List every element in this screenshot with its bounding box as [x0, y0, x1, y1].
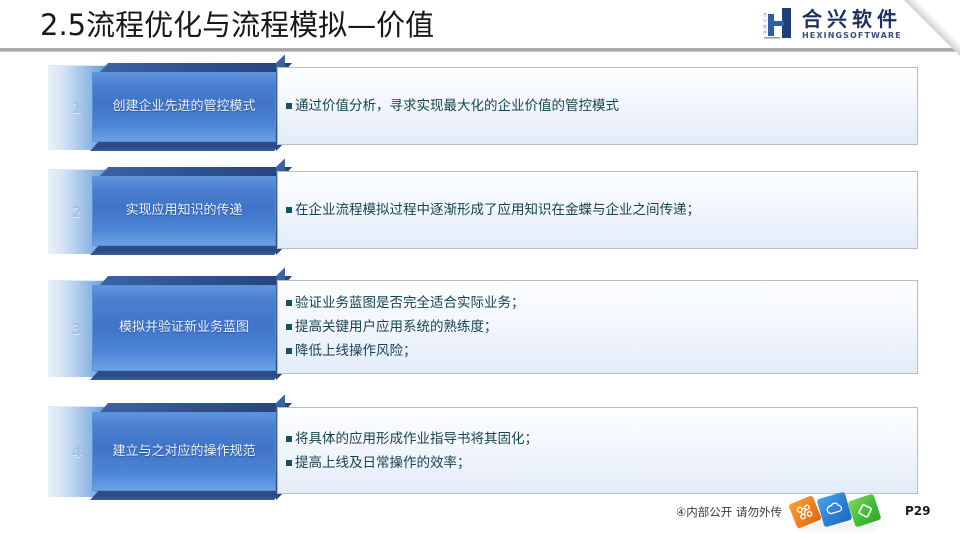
row-label-box[interactable]: 创建企业先进的管控模式 [92, 63, 285, 151]
slide-footer: ④内部公开 请勿外传 [0, 492, 960, 540]
bullet-item: 提高上线及日常操作的效率； [286, 451, 907, 475]
bullet-text: 提高关键用户应用系统的熟练度； [295, 318, 498, 336]
bullet-square-icon [286, 300, 292, 306]
row-number: 3 [72, 320, 82, 338]
brand-text: 合兴软件 HEXINGSOFTWARE [802, 8, 902, 41]
bullet-text: 通过价值分析，寻求实现最大化的企业价值的管控模式 [295, 97, 619, 115]
row-number: 2 [72, 203, 82, 221]
header-divider [0, 48, 960, 52]
bullet-text: 降低上线操作风险； [295, 342, 417, 360]
page-title: 2.5流程优化与流程模拟—价值 [40, 6, 434, 44]
bullet-item: 降低上线操作风险； [286, 339, 907, 363]
bullet-text: 在企业流程模拟过程中逐渐形成了应用知识在金蝶与企业之间传递； [295, 201, 700, 219]
bullet-item: 验证业务蓝图是否完全适合实际业务； [286, 291, 907, 315]
row-number: 1 [72, 99, 82, 117]
bullet-square-icon [286, 207, 292, 213]
page-curl-decoration [904, 0, 960, 56]
row-label-text: 实现应用知识的传递 [115, 201, 252, 221]
bullet-square-icon [286, 103, 292, 109]
row-label-box[interactable]: 建立与之对应的操作规范 [92, 403, 285, 500]
cube-logo-group [790, 493, 882, 533]
brand-name-cn: 合兴软件 [802, 8, 902, 30]
row-number: 4 [72, 443, 82, 461]
value-row: 2 实现应用知识的传递 在企业流程模拟过程中逐渐形成了应用知识在金蝶与企业之间传… [0, 167, 960, 255]
bullet-square-icon [286, 324, 292, 330]
bullet-item: 提高关键用户应用系统的熟练度； [286, 315, 907, 339]
row-label-box[interactable]: 实现应用知识的传递 [92, 167, 285, 255]
box-face: 实现应用知识的传递 [92, 176, 276, 246]
bullet-text: 将具体的应用形成作业指导书将其固化； [295, 430, 538, 448]
box-face: 模拟并验证新业务蓝图 [92, 285, 276, 371]
box-face: 创建企业先进的管控模式 [92, 72, 276, 142]
svg-text:合: 合 [763, 11, 767, 17]
svg-text:软: 软 [763, 23, 767, 29]
row-content-panel: 在企业流程模拟过程中逐渐形成了应用知识在金蝶与企业之间传递； [277, 171, 918, 249]
value-row: 4 建立与之对应的操作规范 将具体的应用形成作业指导书将其固化； 提高上线及日常… [0, 403, 960, 501]
row-label-box[interactable]: 模拟并验证新业务蓝图 [92, 276, 285, 380]
row-content-panel: 验证业务蓝图是否完全适合实际业务； 提高关键用户应用系统的熟练度； 降低上线操作… [277, 280, 918, 374]
svg-text:件: 件 [763, 29, 767, 35]
row-label-text: 建立与之对应的操作规范 [102, 442, 265, 462]
confidential-notice: ④内部公开 请勿外传 [676, 504, 782, 520]
brand-logo: 合 兴 软 件 合兴软件 HEXINGSOFTWARE [762, 4, 902, 44]
row-content-panel: 通过价值分析，寻求实现最大化的企业价值的管控模式 [277, 67, 918, 145]
value-row: 1 创建企业先进的管控模式 通过价值分析，寻求实现最大化的企业价值的管控模式 [0, 63, 960, 151]
row-content-panel: 将具体的应用形成作业指导书将其固化； 提高上线及日常操作的效率； [277, 407, 918, 494]
box-top-bevel [100, 403, 292, 412]
bullet-item: 通过价值分析，寻求实现最大化的企业价值的管控模式 [286, 94, 907, 118]
bullet-square-icon [286, 460, 292, 466]
slide-header: 2.5流程优化与流程模拟—价值 合 兴 软 件 合兴软件 HEXINGSOFTW… [0, 0, 960, 51]
value-row: 3 模拟并验证新业务蓝图 验证业务蓝图是否完全适合实际业务； 提高关键用户应用系… [0, 276, 960, 381]
bullet-text: 验证业务蓝图是否完全适合实际业务； [295, 294, 525, 312]
svg-text:兴: 兴 [763, 17, 767, 23]
row-label-text: 创建企业先进的管控模式 [102, 97, 265, 117]
bullet-square-icon [286, 436, 292, 442]
bullet-item: 将具体的应用形成作业指导书将其固化； [286, 427, 907, 451]
page-number: P29 [905, 504, 931, 518]
row-label-text: 模拟并验证新业务蓝图 [109, 318, 259, 338]
hexing-h-logo-icon: 合 兴 软 件 [762, 6, 796, 42]
box-top-bevel [100, 63, 292, 72]
box-face: 建立与之对应的操作规范 [92, 412, 276, 491]
box-top-bevel [100, 167, 292, 176]
bullet-text: 提高上线及日常操作的效率； [295, 454, 471, 472]
brand-name-en: HEXINGSOFTWARE [802, 30, 902, 41]
bullet-item: 在企业流程模拟过程中逐渐形成了应用知识在金蝶与企业之间传递； [286, 198, 907, 222]
box-top-bevel [100, 276, 292, 285]
bullet-square-icon [286, 348, 292, 354]
